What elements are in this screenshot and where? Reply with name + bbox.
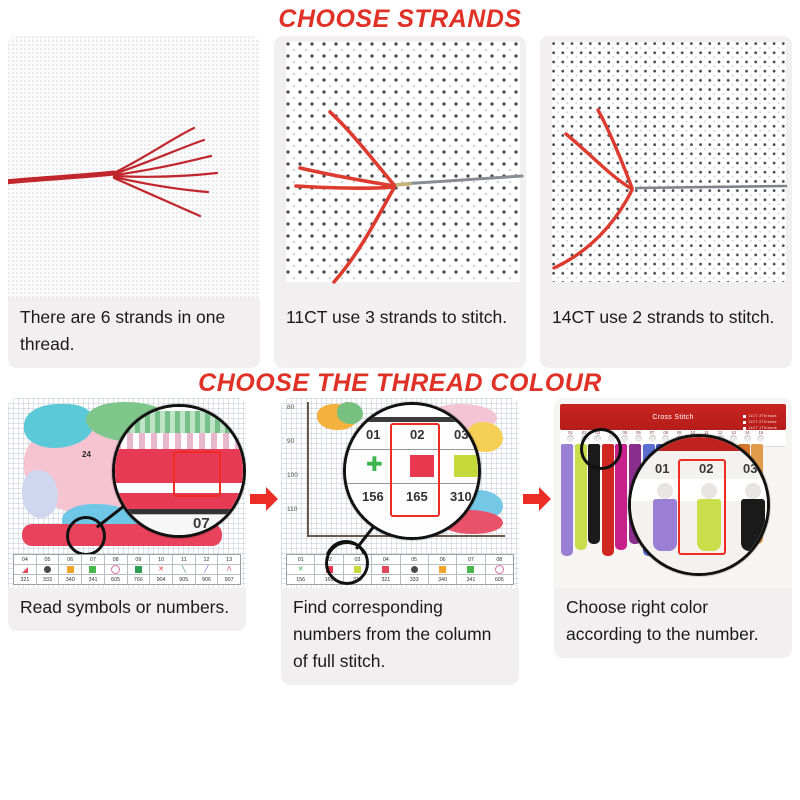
thread-focus-circle (580, 428, 622, 470)
legend-cell: 09 (128, 555, 151, 564)
legend-cell: 08 (486, 555, 513, 564)
chart-legend-row-codes: 0102030405060708 (287, 555, 513, 565)
thread-loupe-skein (741, 499, 765, 551)
thread-card: Cross Stitch 11CT 3Threads11CT 2Threads1… (554, 398, 792, 588)
legend-cell: 05 (37, 555, 60, 564)
legend-symbol-cell (59, 565, 82, 574)
chart-axis-label: 80 (287, 404, 294, 411)
strands-panel-3: 14CT use 2 strands to stitch. (540, 36, 792, 368)
legend-cell: 333 (37, 575, 60, 584)
legend-cell: 06 (429, 555, 457, 564)
legend-symbol-cell (37, 565, 60, 574)
legend-cell: 907 (218, 575, 240, 584)
legend-cell: 04 (14, 555, 37, 564)
thread-tab: 15 (754, 430, 767, 435)
legend-symbol-cell (105, 565, 128, 574)
colour-caption-1: Read symbols or numbers. (8, 588, 246, 631)
legend-symbol-cell: ╲ (173, 565, 196, 574)
legend-cell: 905 (173, 575, 196, 584)
legend-symbol-cell (128, 565, 151, 574)
strands-photo-11ct (274, 36, 526, 298)
thread-organiser-image: Cross Stitch 11CT 3Threads11CT 2Threads1… (554, 398, 792, 588)
cross-icon: ✕ (158, 566, 165, 573)
dot-icon (411, 566, 418, 573)
chart-magnifier: 010203 ✚ 156165310 (343, 402, 481, 540)
square-icon (89, 566, 96, 573)
legend-symbol-cell: ╱ (196, 565, 219, 574)
strands-caption-1: There are 6 strands in one thread. (8, 298, 260, 368)
thread-tab: 06 (632, 430, 645, 435)
chart-axis-label: 90 (287, 438, 294, 445)
thread-six-strands-illustration (8, 36, 260, 298)
legend-row-symbols: ✕╲╱Λ (14, 565, 240, 575)
legend-cell: 04 (372, 555, 400, 564)
thread-tab: 12 (714, 430, 727, 435)
chart-loupe-swatch (454, 455, 478, 477)
strands-caption-3: 14CT use 2 strands to stitch. (540, 298, 792, 341)
colour-panel-1: 24 07 (8, 398, 246, 631)
strands-panel-2: 11CT use 3 strands to stitch. (274, 36, 526, 368)
dot-icon (44, 566, 51, 573)
legend-cell: 340 (429, 575, 457, 584)
colour-panel-3: Cross Stitch 11CT 3Threads11CT 2Threads1… (554, 398, 792, 658)
thread-highlight-box (678, 459, 726, 555)
legend-cell: 06 (59, 555, 82, 564)
right-arrow-icon (522, 484, 552, 514)
strands-photo-6-strands (8, 36, 260, 298)
strands-panel-1: There are 6 strands in one thread. (8, 36, 260, 368)
chart-axis-label: 100 (287, 472, 298, 479)
thread-card-title: Cross Stitch (652, 414, 693, 421)
thread-tab-notch (621, 435, 628, 442)
section-title-choose-thread-colour: CHOOSE THE THREAD COLOUR (0, 368, 800, 396)
legend-cell: 766 (128, 575, 151, 584)
colour-panel-row: 24 07 (0, 398, 800, 685)
caret-icon: Λ (226, 566, 233, 573)
thread-loupe-code: 03 (743, 461, 757, 476)
chart-loupe-code: 01 (366, 427, 380, 442)
legend-cell: 07 (82, 555, 105, 564)
pattern-blob-violet (22, 470, 58, 518)
pattern-loupe-code: 07 (193, 515, 210, 532)
legend-cell: 333 (401, 575, 429, 584)
chart-numbers-image: 8090100110 0 (281, 398, 519, 588)
circle-icon (111, 565, 120, 574)
legend-cell: 605 (105, 575, 128, 584)
thread-tab: 14 (741, 430, 754, 435)
legend-cell: 321 (372, 575, 400, 584)
colour-caption-3: Choose right color according to the numb… (554, 588, 792, 658)
thread-tab: 08 (659, 430, 672, 435)
square-icon (67, 566, 74, 573)
thread-loupe-code: 01 (655, 461, 669, 476)
arrow-cell-1 (247, 398, 281, 514)
symbol-legend-table: 04050607080910111213 ✕╲╱Λ 32133334034160… (13, 554, 241, 585)
square-icon (467, 566, 474, 573)
legend-cell: 904 (150, 575, 173, 584)
thread-magnifier: 010203 (628, 434, 770, 576)
legend-symbol-cell (372, 565, 400, 574)
strands-panel-row: There are 6 strands in one thread. (0, 36, 800, 368)
legend-cell: 05 (401, 555, 429, 564)
triangle-icon (22, 567, 28, 573)
thread-loupe-notch (745, 483, 761, 499)
legend-cell: 321 (14, 575, 37, 584)
thread-tab-notch (567, 435, 574, 442)
square-icon (382, 566, 389, 573)
legend-cell: 01 (287, 555, 315, 564)
infographic-page: CHOOSE STRANDS There are (0, 0, 800, 800)
cross-icon: ✕ (297, 566, 304, 573)
legend-cell: 340 (59, 575, 82, 584)
chart-legend-row-numbers: 156165310321333340341605 (287, 575, 513, 584)
chart-loupe-swatch: ✚ (366, 455, 390, 477)
square-icon (135, 566, 142, 573)
thread-loupe-skein (653, 499, 677, 551)
legend-cell: 10 (150, 555, 173, 564)
legend-symbol-cell (401, 565, 429, 574)
colour-caption-2: Find corresponding numbers from the colu… (281, 588, 519, 685)
thread-loupe-notch (657, 483, 673, 499)
arrow-cell-2 (520, 398, 554, 514)
pattern-row-label: 24 (82, 450, 91, 459)
legend-row-codes: 04050607080910111213 (14, 555, 240, 565)
legend-symbol-cell: ✕ (150, 565, 173, 574)
strands-caption-2: 11CT use 3 strands to stitch. (274, 298, 526, 341)
legend-cell: 605 (486, 575, 513, 584)
thread-card-legend: 11CT 3Threads11CT 2Threads14CT 2Threads (743, 413, 777, 431)
leaf-icon: ╱ (203, 566, 210, 573)
chart-legend-table: 0102030405060708 ✕ 156165310321333340341… (286, 554, 514, 585)
legend-cell: 08 (105, 555, 128, 564)
section-title-choose-strands: CHOOSE STRANDS (0, 0, 800, 32)
legend-symbol-cell (486, 565, 513, 574)
thread-tab: 07 (646, 430, 659, 435)
legend-cell: 13 (218, 555, 240, 564)
legend-symbol-cell (457, 565, 485, 574)
legend-cell: 341 (457, 575, 485, 584)
chart-highlight-box (390, 423, 440, 517)
thread-tab: 13 (727, 430, 740, 435)
colour-panel-2: 8090100110 0 (281, 398, 519, 685)
square-icon (439, 566, 446, 573)
legend-symbol-cell (429, 565, 457, 574)
pattern-magnifier: 07 (112, 404, 246, 538)
legend-symbol-cell (82, 565, 105, 574)
printed-pattern: 24 07 (8, 398, 246, 588)
thread-tab: 01 (564, 430, 577, 435)
legend-cell: 07 (457, 555, 485, 564)
legend-cell: 341 (82, 575, 105, 584)
chart-loupe-number: 310 (450, 489, 472, 504)
strands-photo-14ct (540, 36, 792, 298)
thread-tab: 09 (673, 430, 686, 435)
chart-legend-row-symbols: ✕ (287, 565, 513, 575)
thread-skein-knot (561, 444, 573, 453)
chart-canvas: 8090100110 0 (281, 398, 519, 588)
chart-axis-label: 110 (287, 506, 297, 513)
right-arrow-icon (249, 484, 279, 514)
legend-row-numbers: 321333340341605766904905906907 (14, 575, 240, 584)
legend-cell: 156 (287, 575, 315, 584)
thread-card-header: Cross Stitch 11CT 3Threads11CT 2Threads1… (560, 404, 786, 430)
pattern-canvas-image: 24 07 (8, 398, 246, 588)
legend-cell: 12 (196, 555, 219, 564)
legend-cell: 906 (196, 575, 219, 584)
chart-loupe-number: 156 (362, 489, 384, 504)
thread-tab: 05 (618, 430, 631, 435)
pattern-highlight-box (173, 451, 221, 497)
legend-cell: 11 (173, 555, 196, 564)
legend-symbol-cell: ✕ (287, 565, 315, 574)
legend-symbol-cell (14, 565, 37, 574)
circle-icon (495, 565, 504, 574)
thread-two-strands-needle-illustration (540, 36, 792, 298)
thread-three-strands-needle-illustration (274, 36, 526, 298)
legend-symbol-cell: Λ (218, 565, 240, 574)
thread-skein (561, 444, 573, 556)
chart-loupe-code: 03 (454, 427, 468, 442)
slash-icon: ╲ (180, 566, 187, 573)
chart-legend-focus-circle (325, 541, 369, 585)
